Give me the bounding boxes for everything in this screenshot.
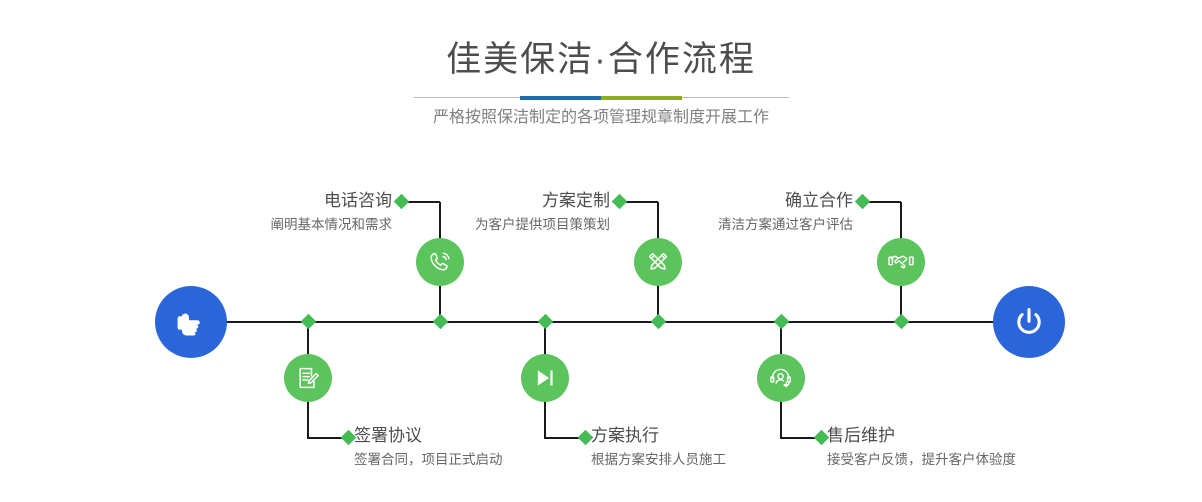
- document-sign-icon: [294, 364, 322, 392]
- timeline-node-marker: [894, 314, 910, 330]
- step-subtitle: 为客户提供项目策策划: [330, 215, 610, 235]
- timeline-end-endpoint[interactable]: [993, 286, 1065, 358]
- timeline-node-marker: [433, 314, 449, 330]
- step-label-bottom-3: 售后维护 接受客户反馈，提升客户体验度: [827, 425, 1127, 470]
- step-label-top-3: 确立合作 清洁方案通过客户评估: [570, 190, 853, 235]
- step-label-top-2: 方案定制 为客户提供项目策策划: [330, 190, 610, 235]
- step-icon-partnership[interactable]: [877, 238, 925, 286]
- timeline-node-marker: [774, 314, 790, 330]
- power-icon: [1010, 303, 1048, 341]
- step-icon-after-sales[interactable]: [757, 354, 805, 402]
- timeline-node-marker: [651, 314, 667, 330]
- step-icon-plan-design[interactable]: [634, 238, 682, 286]
- timeline-node-marker: [301, 314, 317, 330]
- timeline: 电话咨询 阐明基本情况和需求 方案定制 为客户提供项目策策划: [0, 0, 1202, 502]
- handshake-icon: [887, 248, 915, 276]
- step-subtitle: 清洁方案通过客户评估: [570, 215, 853, 235]
- step-title: 方案定制: [330, 190, 610, 212]
- timeline-start-endpoint[interactable]: [155, 286, 227, 358]
- pencil-ruler-icon: [644, 248, 672, 276]
- label-marker: [855, 194, 871, 210]
- step-subtitle: 接受客户反馈，提升客户体验度: [827, 450, 1127, 470]
- step-icon-plan-execution[interactable]: [521, 354, 569, 402]
- play-skip-icon: [531, 364, 559, 392]
- support-agent-add-icon: [767, 364, 795, 392]
- flow-infographic: 佳美保洁·合作流程 严格按照保洁制定的各项管理规章制度开展工作: [0, 0, 1202, 502]
- phone-call-icon: [426, 248, 454, 276]
- step-icon-sign-agreement[interactable]: [284, 354, 332, 402]
- step-title: 售后维护: [827, 425, 1127, 447]
- step-title: 确立合作: [570, 190, 853, 212]
- pointing-hand-icon: [172, 303, 210, 341]
- step-icon-phone-call[interactable]: [416, 238, 464, 286]
- timeline-node-marker: [538, 314, 554, 330]
